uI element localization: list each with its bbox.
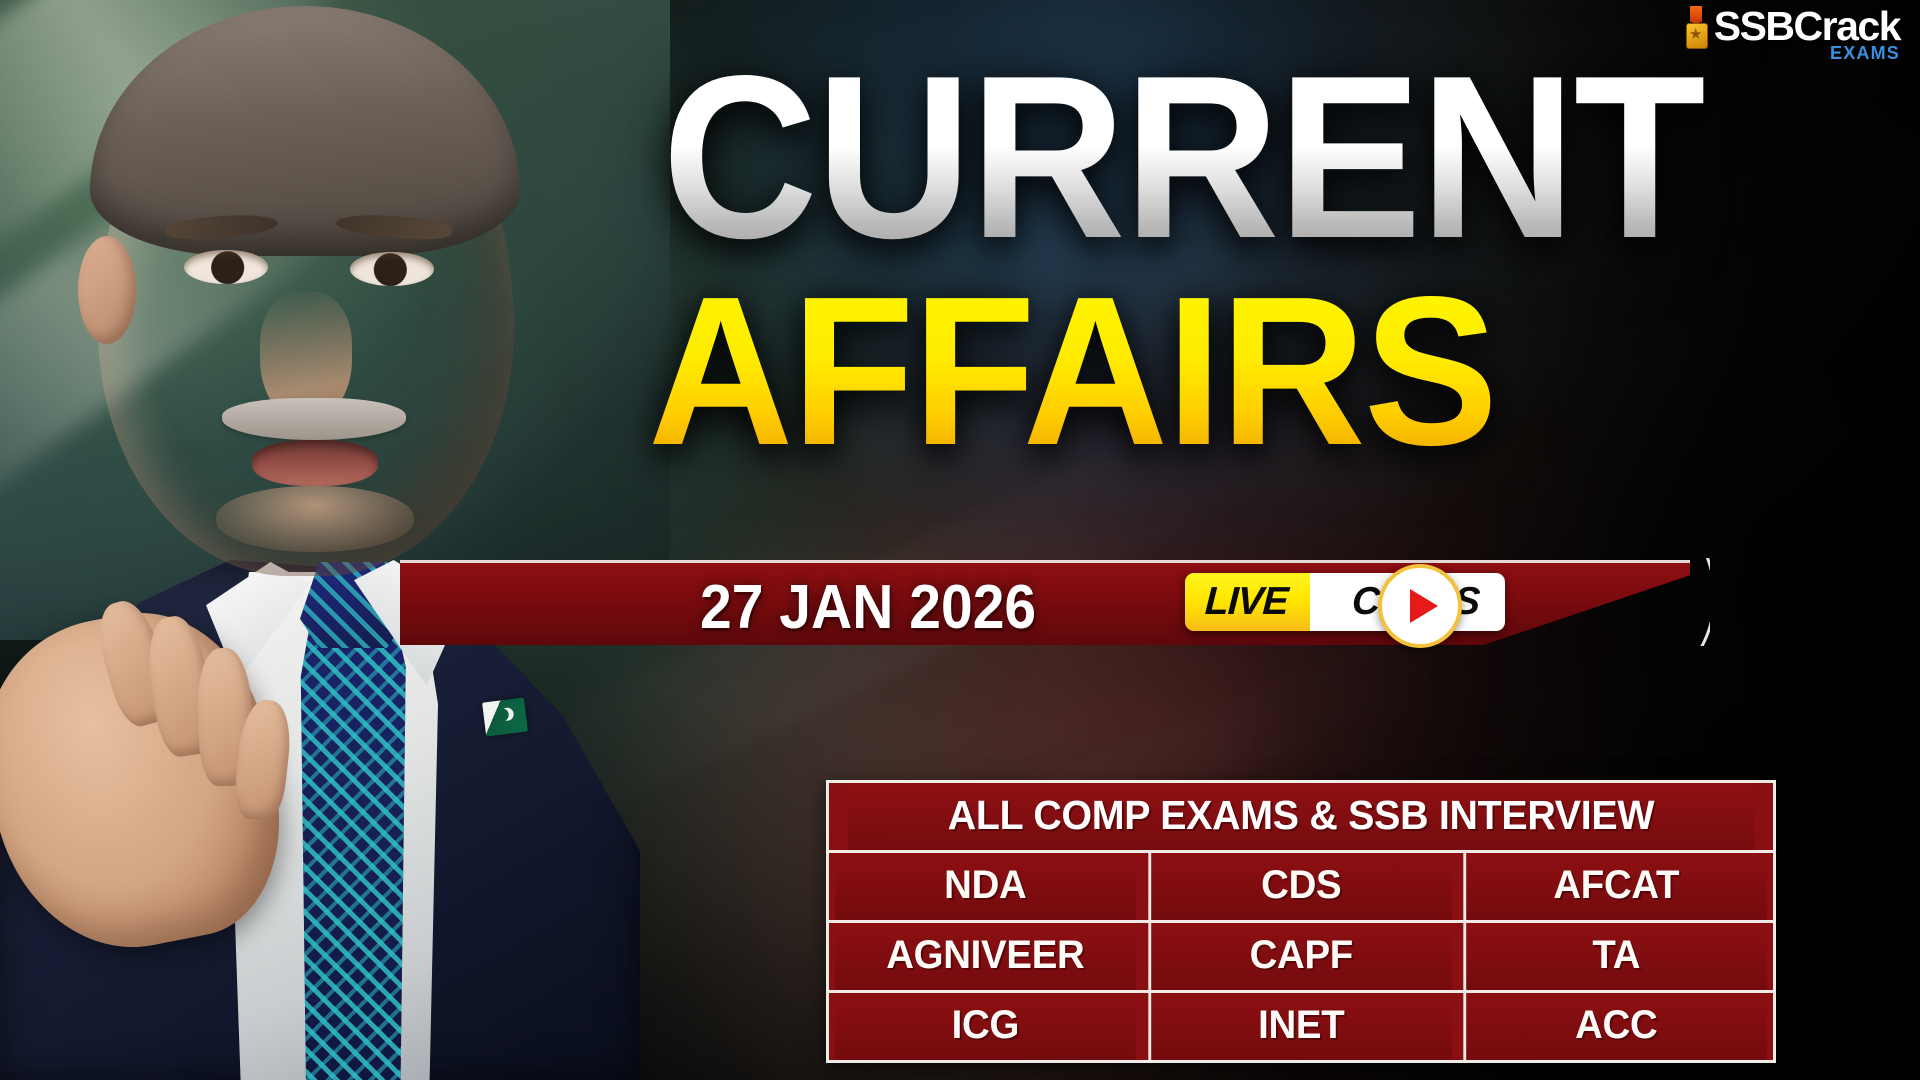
eye-right [350,252,434,286]
table-cell: CDS [1148,853,1451,920]
table-cell: AFCAT [1464,853,1767,920]
table-cell: CAPF [1148,923,1451,990]
play-triangle [1410,589,1438,623]
table-cell: NDA [835,853,1135,920]
ear [78,236,136,344]
logo-sub-text: EXAMS [1830,44,1900,62]
table-row: NDA CDS AFCAT [829,850,1773,920]
eye-left [184,250,268,284]
exam-table: ALL COMP EXAMS & SSB INTERVIEW NDA CDS A… [826,780,1776,1063]
logo-main-text: SSBCrack [1714,6,1900,47]
necktie [288,588,416,1080]
table-row: AGNIVEER CAPF TA [829,920,1773,990]
table-cell: ACC [1464,993,1767,1060]
table-cell: INET [1148,993,1451,1060]
table-cell: AGNIVEER [835,923,1135,990]
table-header-cell: ALL COMP EXAMS & SSB INTERVIEW [848,783,1754,850]
date-text: 27 JAN 2026 [700,572,1036,643]
thumbnail-canvas: SSBCrack EXAMS CURRENT AFFAIRS 27 JAN 20… [0,0,1920,1080]
table-cell: ICG [835,993,1135,1060]
ssbcrack-logo[interactable]: SSBCrack EXAMS [1684,6,1900,62]
portrait-photo [0,0,690,1080]
logo-text: SSBCrack EXAMS [1714,6,1900,62]
live-label: LIVE [1204,580,1289,624]
pakistan-flag-pin-icon [482,698,528,737]
crescent-icon [495,708,509,722]
table-row: ICG INET ACC [829,990,1773,1060]
play-icon[interactable] [1378,564,1462,648]
title-line-2: AFFAIRS [648,280,1496,462]
table-cell: TA [1464,923,1767,990]
table-header-row: ALL COMP EXAMS & SSB INTERVIEW [829,783,1773,850]
mouth [252,440,378,486]
chin [216,486,414,552]
title-line-1: CURRENT [662,58,1704,258]
live-label-container: LIVE [1185,573,1310,631]
moustache [222,398,406,440]
